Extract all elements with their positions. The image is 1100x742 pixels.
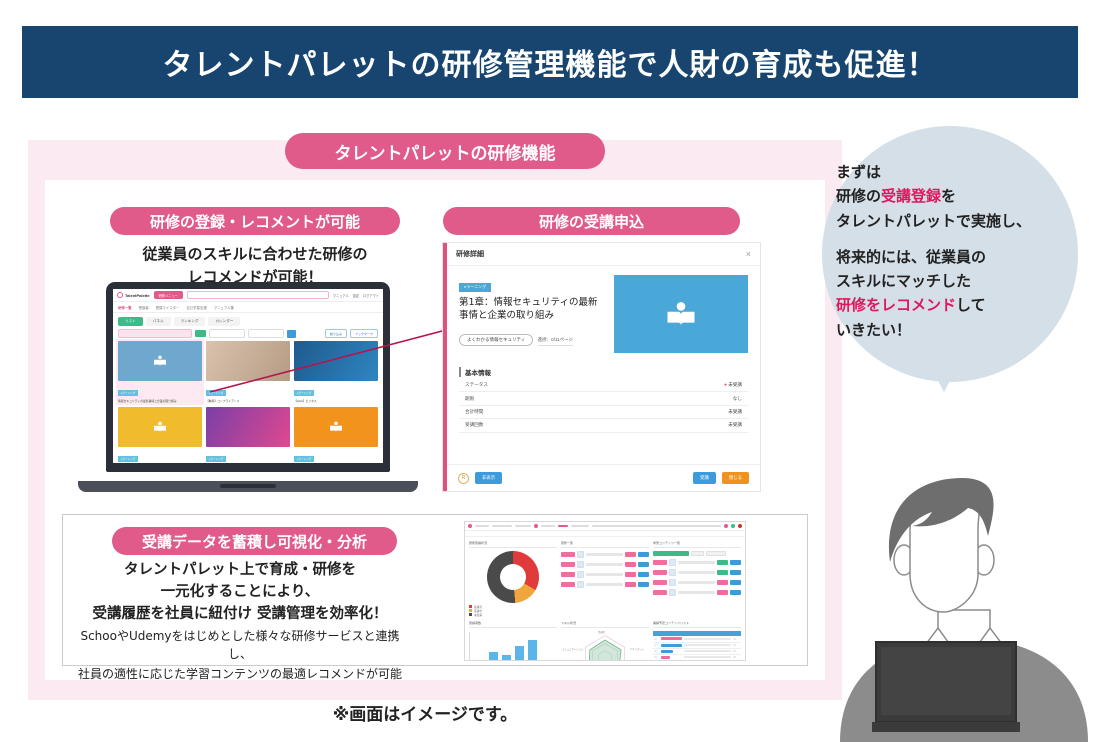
header-item [541,525,555,528]
panel-enrollee-count: 受講者数 22/04 22/05 22/06 22/07 22/08 [469,621,557,661]
laptop-notch [220,484,276,488]
course-tag: eラーニング [118,390,138,396]
list-item[interactable] [653,579,741,586]
connector-line [210,330,460,400]
course-card[interactable]: eラーニング [118,407,202,463]
header-link-0[interactable]: マニュアル [333,293,349,298]
notification-icon[interactable] [724,524,728,528]
analytics-line-5: 社員の適性に応じた学習コンテンツの最適レコメンドが可能 [70,665,410,683]
close-button[interactable]: 閉じる [722,472,749,484]
header-icon [534,524,538,528]
book-icon [152,355,168,367]
training-detail-modal: 研修詳細 × eラーニング 第1章：情報セキュリティの最新事情と企業の取り組み … [443,243,760,491]
course-card[interactable]: eラーニング [206,407,290,463]
bubble-line-5: スキルにマッチした [836,272,971,290]
course-thumbnail-large [614,275,748,353]
list-item[interactable] [653,559,741,566]
nav-item-4[interactable]: マニュアル集 [214,305,234,310]
table-row: 期限 なし [459,392,748,405]
radar-axis-label: アウトプット [630,647,644,651]
table-row: ステータス ● 未受講 [459,379,748,392]
panel-title: 受講者数 [469,621,557,628]
book-icon [663,301,699,328]
header-item-active [558,525,568,528]
badge-registration-recommend: 研修の登録・レコメントが可能 [110,207,400,235]
bar [502,655,511,661]
panel-title: 研修受講状況 [469,541,557,548]
tab-panel[interactable]: パネル [146,317,171,326]
course-name: 情報セキュリティの最新事情と企業の取り組み [118,400,202,403]
course-tag: eラーニング [118,456,138,462]
course-card[interactable]: eラーニング [294,407,378,463]
nav-item-0[interactable]: 研修一覧 [118,305,132,310]
bar [515,646,524,661]
badge-data-analytics: 受講データを蓄積し可視化・分析 [112,527,397,555]
modal-header: 研修詳細 × [447,243,760,266]
speech-bubble-tail [930,366,958,392]
close-icon[interactable]: × [746,250,751,259]
info-label: 受講回数 [459,419,615,432]
analytics-line-4: SchooやUdemyをはじめとした様々な研修サービスと連携し、 [70,627,410,663]
course-name: 【Q&A】ビジネス [294,400,378,403]
dashboard-header [465,522,745,531]
analytics-line-1: タレントパレット上で育成・研修を [70,560,410,582]
panel-toolbar[interactable] [653,551,741,556]
course-tag: eラーニング [294,456,314,462]
header-links[interactable]: マニュアル 設定 ログアウト [333,293,379,298]
logo-mark-icon [468,524,472,528]
modal-title: 研修詳細 [456,249,484,259]
bubble-line-2c: を [941,187,956,205]
header-item [571,525,589,528]
bubble-line-2a: 研修の [836,187,881,205]
bubble-line-6c: して [956,296,986,314]
search-button[interactable] [195,330,206,337]
panel-training-list: 研修一覧 [561,541,649,617]
training-menu-button[interactable]: 研修メニュー [154,291,183,299]
analytics-dashboard-mockup: 研修受講状況 受講済 受講中 未受講 研修一覧 学習コンテンツ一覧 [464,521,746,661]
bubble-line-1: まずは [836,163,881,181]
list-item[interactable] [653,569,741,576]
list-item[interactable] [561,551,649,558]
radar-axis-label: コミュニケーション [562,647,583,651]
tab-calendar[interactable]: カレンダー [208,317,240,326]
list-item[interactable] [653,589,741,596]
enroll-button[interactable]: 受講 [693,472,716,484]
bubble-line-4: 将来的には、従業員の [836,248,986,266]
info-value: ● 未受講 [615,379,748,392]
info-label: ステータス [459,379,615,392]
basic-info-table: ステータス ● 未受講 期限 なし 合計時間 未受講 受講回数 未受講 [459,379,748,433]
nav-item-2[interactable]: 受講マイスター [156,305,180,310]
course-card[interactable]: eラーニング 情報セキュリティの最新事情と企業の取り組み [116,339,204,405]
speech-bubble-text: まずは 研修の受講登録を タレントパレットで実施し、 将来的には、従業員の スキ… [836,160,1068,342]
info-label: 合計時間 [459,405,615,418]
avatar: R [458,473,469,484]
legend-label: 未受講 [474,614,482,617]
app-logo-text: TalentPalette [125,293,150,298]
bubble-highlight-2: 研修をレコメンド [836,296,956,314]
course-name: 【無料】コンプライアンス [206,400,290,403]
analytics-line-3: 受講履歴を社員に紐付け 受講管理を効率化！ [70,604,410,626]
laptop-base [78,481,418,492]
title-banner: タレントパレットの研修管理機能で人財の育成も促進！ [22,26,1078,98]
content-table [653,631,741,661]
nav-item-1[interactable]: 受講者 [139,305,149,310]
basic-info-heading: 基本情報 [459,367,760,377]
bubble-line-3: タレントパレットで実施し、 [836,212,1031,230]
table-row[interactable] [653,660,741,661]
sort-select[interactable] [118,329,192,338]
footnote: ※画面はイメージです。 [250,700,600,725]
bar [489,652,498,662]
list-item[interactable] [561,581,649,588]
lead-line-1: 従業員のスキルに合わせた研修の [95,243,415,266]
info-value: 未受講 [615,405,748,418]
header-item [492,525,512,528]
panel-enrollment-status: 研修受講状況 受講済 受講中 未受講 [469,541,557,617]
panel-upcoming-content: 開講予定コンテンツリスト [653,621,741,661]
info-value: 未受講 [615,419,748,432]
bubble-paragraph-1: まずは 研修の受講登録を タレントパレットで実施し、 [836,160,1068,233]
radar-chart: 企画力 アウトプット ビジネス知識 コミュニケーション クロージング マネジメン… [578,632,632,661]
panel-title: 学習コンテンツ一覧 [653,541,741,548]
bubble-paragraph-2: 将来的には、従業員の スキルにマッチした 研修をレコメンドして いきたい！ [836,245,1068,342]
app-nav[interactable]: 研修一覧 受講者 受講マイスター 自己学習支援 マニュアル集 [113,302,383,313]
app-logo: TalentPalette [117,292,150,298]
view-tabs[interactable]: リスト パネル ランキング カレンダー [113,313,383,329]
panel-title: 開講予定コンテンツリスト [653,621,741,628]
info-value: なし [615,392,748,405]
course-title: 第1章：情報セキュリティの最新事情と企業の取り組み [459,297,604,323]
person-illustration [828,478,1100,742]
app-header: TalentPalette 研修メニュー マニュアル 設定 ログアウト [113,289,383,302]
header-link-1[interactable]: 設定 [353,293,359,298]
preview-button[interactable]: 非表示 [475,472,502,484]
book-icon [328,421,344,433]
bar [528,640,537,661]
modal-body: eラーニング 第1章：情報セキュリティの最新事情と企業の取り組み よくわかる情報… [447,266,760,353]
user-icon[interactable] [731,524,735,528]
course-tag: eラーニング [206,456,226,462]
course-series-chip: よくわかる情報セキュリティ [459,334,533,346]
modal-left-column: eラーニング 第1章：情報セキュリティの最新事情と企業の取り組み よくわかる情報… [459,275,604,353]
donut-chart [487,551,539,603]
chart-legend: 受講済 受講中 未受講 [469,605,557,617]
header-link-2[interactable]: ログアウト [363,293,379,298]
header-item [475,525,489,528]
course-thumbnail [294,407,378,447]
info-label: 期限 [459,392,615,405]
course-thumbnail [206,407,290,447]
panel-content-list: 学習コンテンツ一覧 [653,541,741,617]
analytics-line-2: 一元化することにより、 [70,582,410,604]
badge-main-feature: タレントパレットの研修機能 [285,133,605,169]
radar-axis-label: 企画力 [598,630,605,634]
tab-ranking[interactable]: ランキング [174,317,206,326]
nav-item-3[interactable]: 自己学習支援 [186,305,206,310]
badge-enrollment-application: 研修の受講申込 [443,207,740,235]
alert-icon[interactable] [738,524,742,528]
course-thumbnail [118,407,202,447]
tab-list[interactable]: リスト [118,317,143,326]
page-title: タレントパレットの研修管理機能で人財の育成も促進！ [163,40,938,84]
logo-mark-icon [117,292,123,298]
list-item[interactable] [561,571,649,578]
analytics-description: タレントパレット上で育成・研修を 一元化することにより、 受講履歴を社員に紐付け… [70,560,410,683]
category-tag: eラーニング [459,283,491,292]
book-icon [152,421,168,433]
progress-text: 進捗：0/11ページ [538,337,573,346]
search-input[interactable] [187,291,329,299]
panel-skill-status: スキル状況 企画力 アウトプット ビジネス知識 コミュニケーション クロージング… [561,621,649,661]
table-row: 合計時間 未受講 [459,405,748,418]
dashboard-panels: 研修受講状況 受講済 受講中 未受講 研修一覧 学習コンテンツ一覧 [465,537,745,661]
panel-title: スキル状況 [561,621,649,628]
bubble-highlight-1: 受講登録 [881,187,941,205]
course-thumbnail [118,341,202,381]
status-dot-icon: ● [724,382,727,387]
panel-title: 研修一覧 [561,541,649,548]
bubble-line-7: いきたい！ [836,321,911,339]
header-item [515,525,531,528]
bar-chart [469,632,557,661]
status-text: 未受講 [728,382,742,387]
modal-footer: R 非表示 受講 閉じる [447,464,760,491]
table-row: 受講回数 未受講 [459,419,748,432]
list-item[interactable] [561,561,649,568]
